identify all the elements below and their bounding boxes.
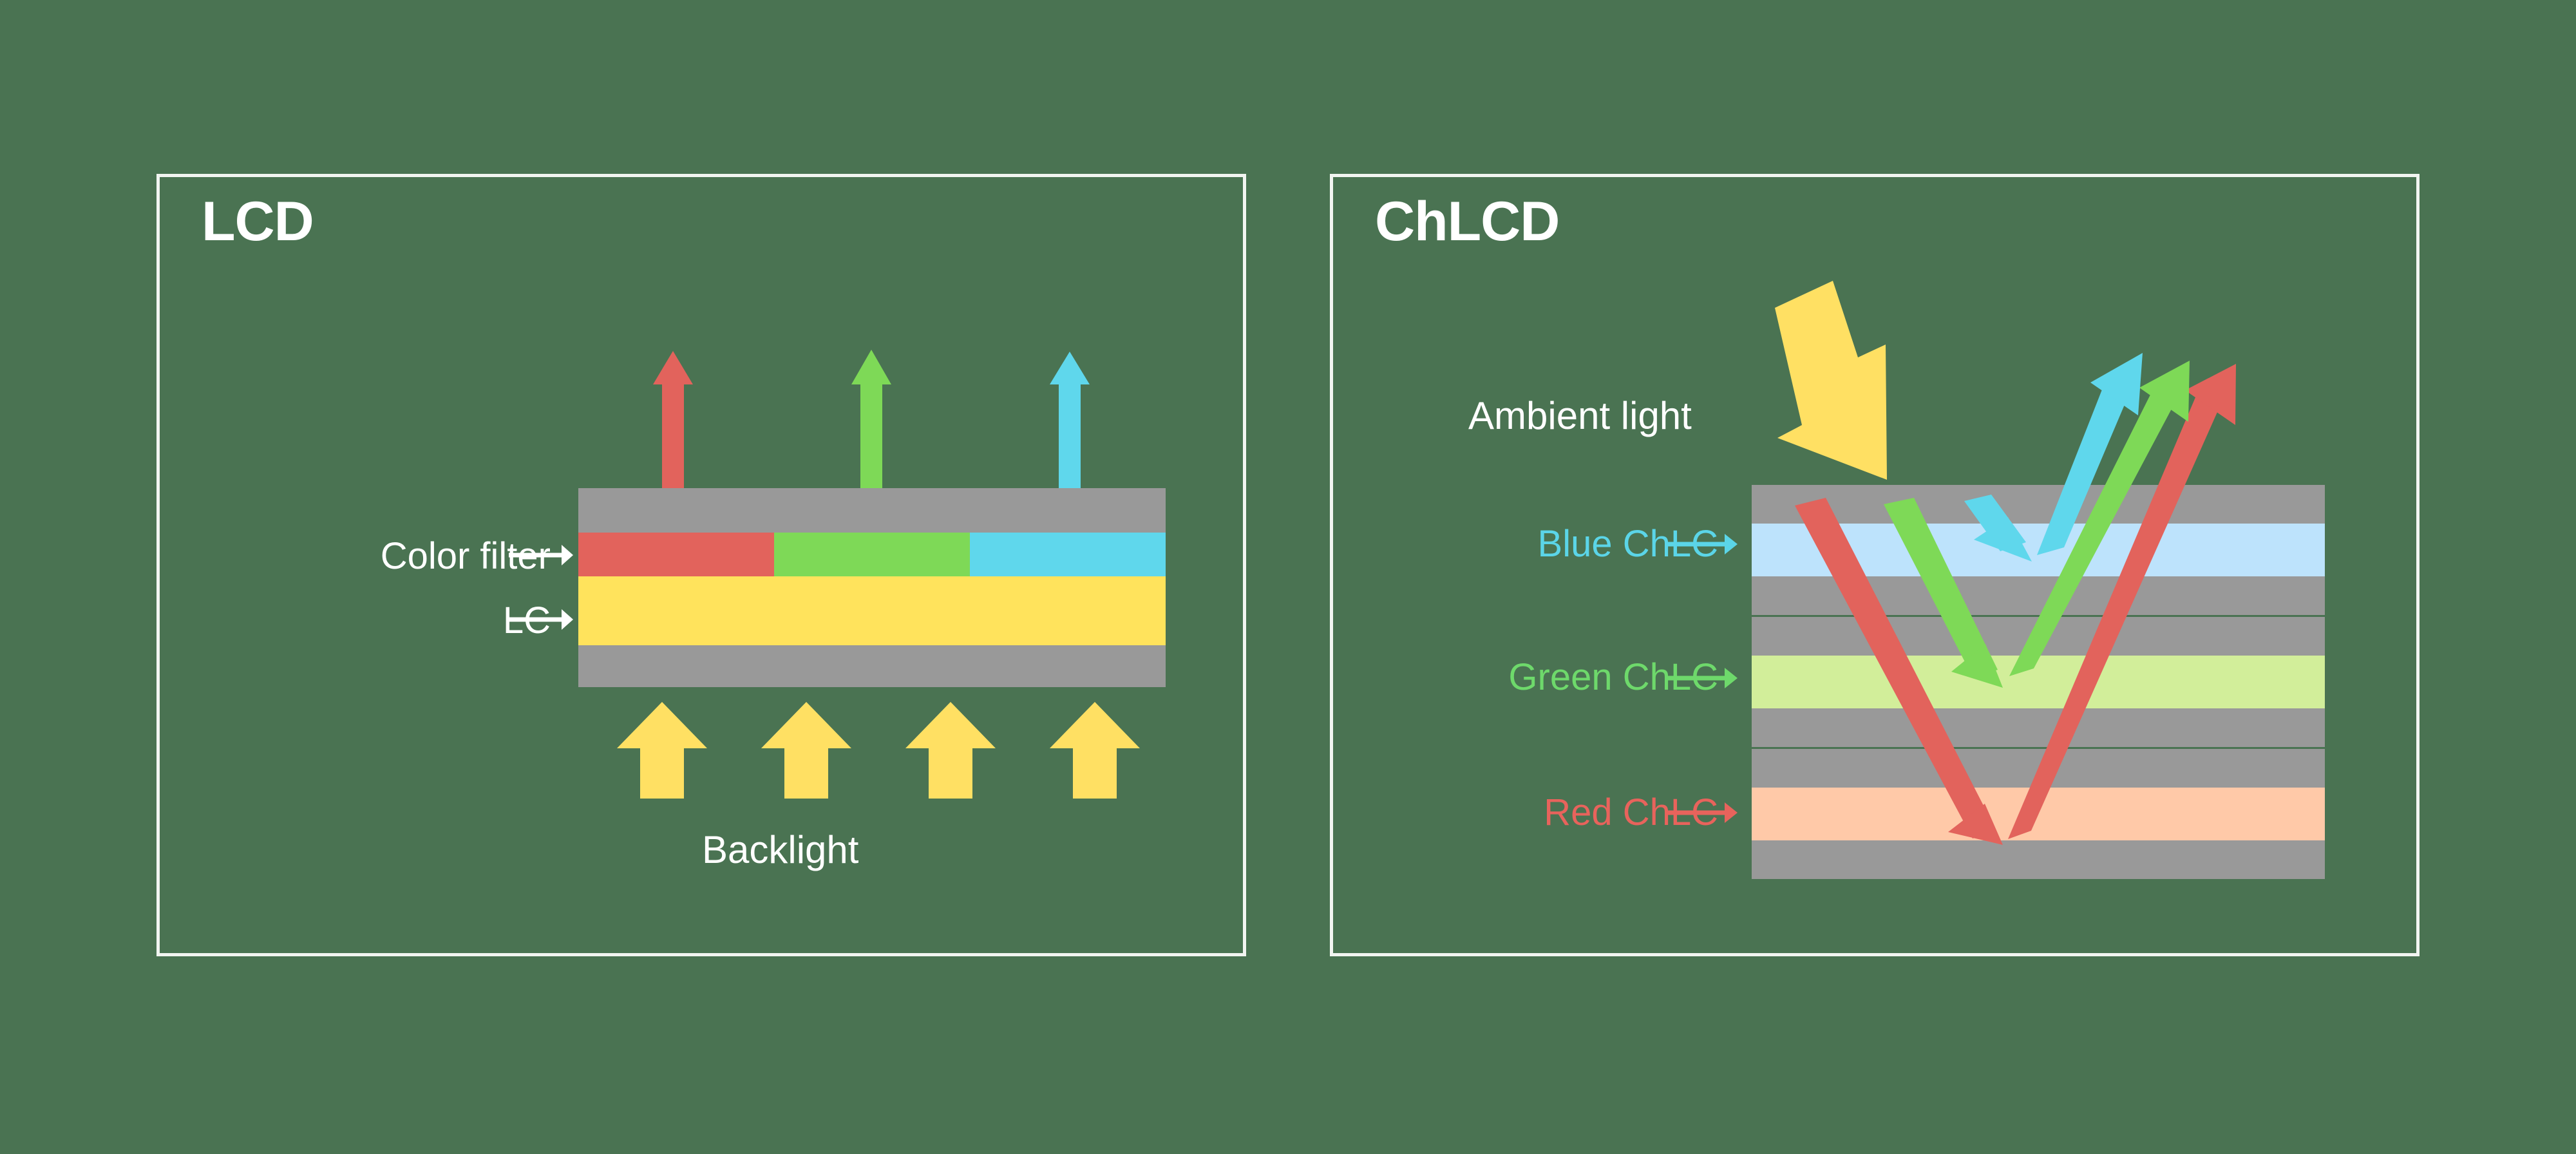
label-green-chlc: Green ChLC <box>1508 659 1718 696</box>
diagram-canvas: LCD ChLCD <box>0 0 2576 1154</box>
green-cell-bottom-substrate <box>1752 708 2325 747</box>
red-cell-bottom-substrate <box>1752 840 2325 879</box>
chlcd-graphics <box>0 0 2576 1154</box>
blue-pointer-head <box>1725 534 1738 554</box>
blue-cell-top-substrate <box>1752 485 2325 524</box>
green-cell-lc <box>1752 656 2325 708</box>
ambient-light-arrow <box>1775 281 1887 480</box>
red-pointer-head <box>1725 802 1738 823</box>
label-ambient-light: Ambient light <box>1468 397 1692 435</box>
label-blue-chlc: Blue ChLC <box>1538 525 1718 563</box>
green-pointer-head <box>1725 668 1738 688</box>
label-red-chlc: Red ChLC <box>1544 794 1718 831</box>
chlcd-pointer-heads <box>1725 534 1738 823</box>
